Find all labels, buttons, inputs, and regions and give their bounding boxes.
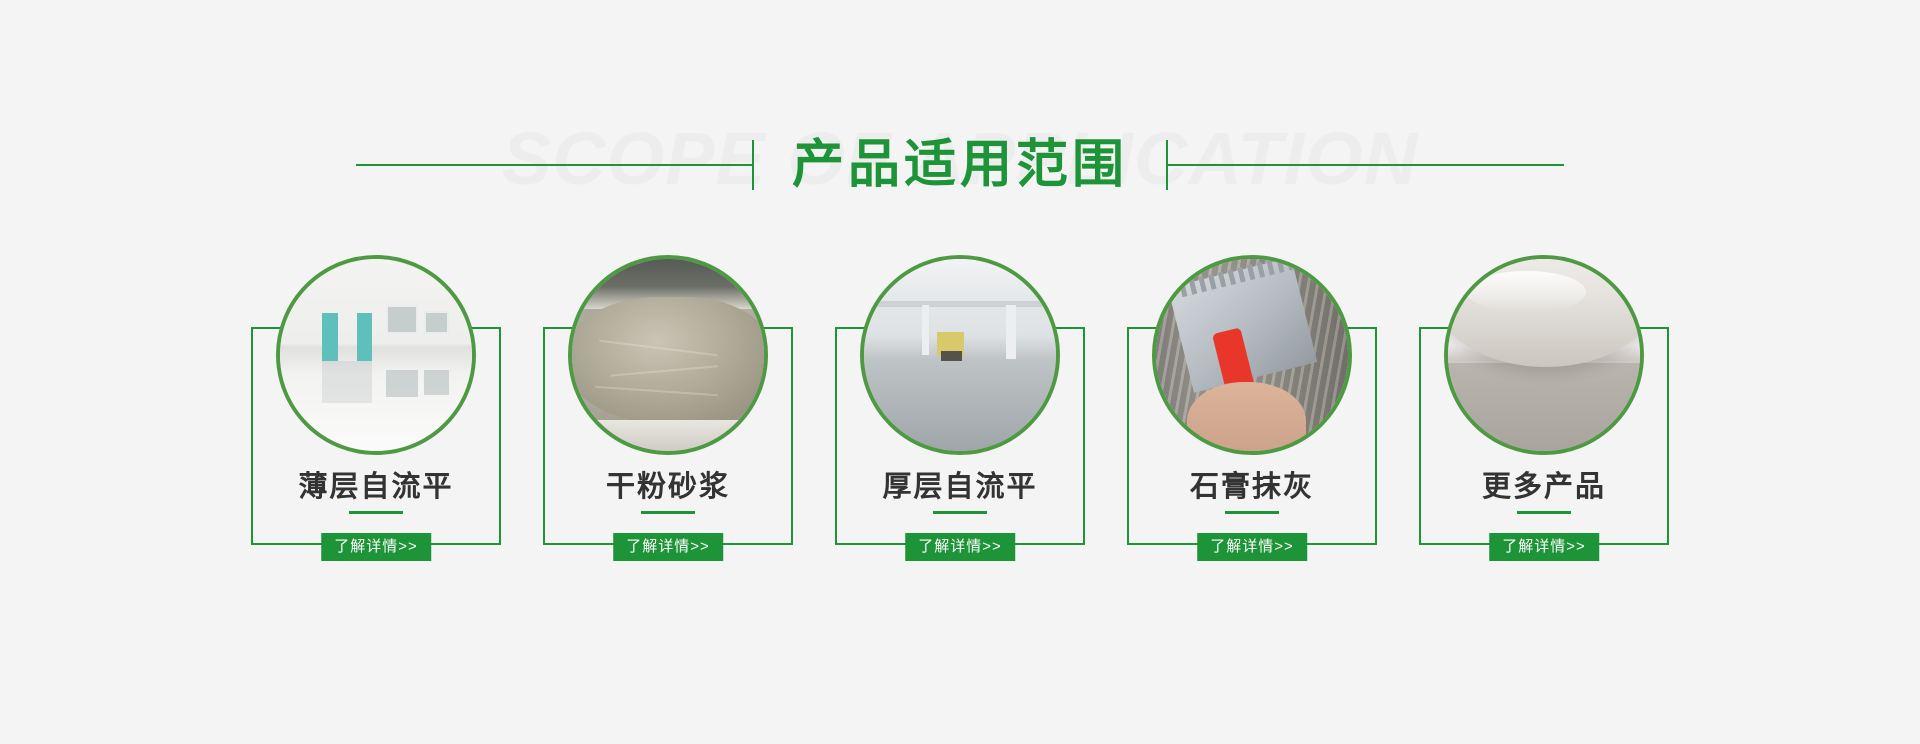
more-products-photo — [1448, 259, 1640, 451]
frame-right-edge — [1083, 327, 1085, 545]
card-thumbnail — [860, 255, 1060, 455]
frame-left-edge — [543, 327, 545, 545]
application-card[interactable]: 干粉砂浆 了解详情>> — [543, 255, 793, 545]
page-title: 产品适用范围 — [754, 139, 1166, 191]
gypsum-plastering-photo — [1156, 259, 1348, 451]
learn-more-button[interactable]: 了解详情>> — [1489, 533, 1599, 561]
card-thumbnail — [1444, 255, 1644, 455]
card-title: 薄层自流平 — [251, 473, 501, 502]
learn-more-button[interactable]: 了解详情>> — [613, 533, 723, 561]
decorative-line-right — [1166, 164, 1564, 166]
self-leveling-thin-layer-photo — [280, 259, 472, 451]
learn-more-button[interactable]: 了解详情>> — [905, 533, 1015, 561]
application-card-list: 薄层自流平 了解详情>> — [0, 255, 1920, 655]
frame-right-edge — [499, 327, 501, 545]
card-title: 干粉砂浆 — [543, 473, 793, 502]
card-title-underline — [349, 511, 403, 514]
card-title: 更多产品 — [1419, 473, 1669, 502]
card-title-underline — [641, 511, 695, 514]
application-card[interactable]: 厚层自流平 了解详情>> — [835, 255, 1085, 545]
card-thumbnail — [276, 255, 476, 455]
card-thumbnail — [568, 255, 768, 455]
application-card[interactable]: 更多产品 了解详情>> — [1419, 255, 1669, 545]
learn-more-button[interactable]: 了解详情>> — [321, 533, 431, 561]
decorative-tick-right — [1166, 140, 1168, 190]
frame-left-edge — [251, 327, 253, 545]
section-header: SCOPE OF APPLICATION 产品适用范围 — [0, 58, 1920, 188]
scope-of-application-section: SCOPE OF APPLICATION 产品适用范围 — [0, 0, 1920, 744]
frame-right-edge — [791, 327, 793, 545]
frame-right-edge — [1667, 327, 1669, 545]
frame-right-edge — [1375, 327, 1377, 545]
card-thumbnail — [1152, 255, 1352, 455]
title-row: 产品适用范围 — [0, 120, 1920, 210]
self-leveling-thick-layer-photo — [864, 259, 1056, 451]
frame-left-edge — [1419, 327, 1421, 545]
card-title: 石膏抹灰 — [1127, 473, 1377, 502]
card-title-underline — [1225, 511, 1279, 514]
application-card[interactable]: 薄层自流平 了解详情>> — [251, 255, 501, 545]
frame-left-edge — [835, 327, 837, 545]
frame-left-edge — [1127, 327, 1129, 545]
learn-more-button[interactable]: 了解详情>> — [1197, 533, 1307, 561]
decorative-line-left — [356, 164, 754, 166]
card-title: 厚层自流平 — [835, 473, 1085, 502]
application-card[interactable]: 石膏抹灰 了解详情>> — [1127, 255, 1377, 545]
decorative-tick-left — [752, 140, 754, 190]
dry-mix-mortar-photo — [572, 259, 764, 451]
card-title-underline — [933, 511, 987, 514]
card-title-underline — [1517, 511, 1571, 514]
